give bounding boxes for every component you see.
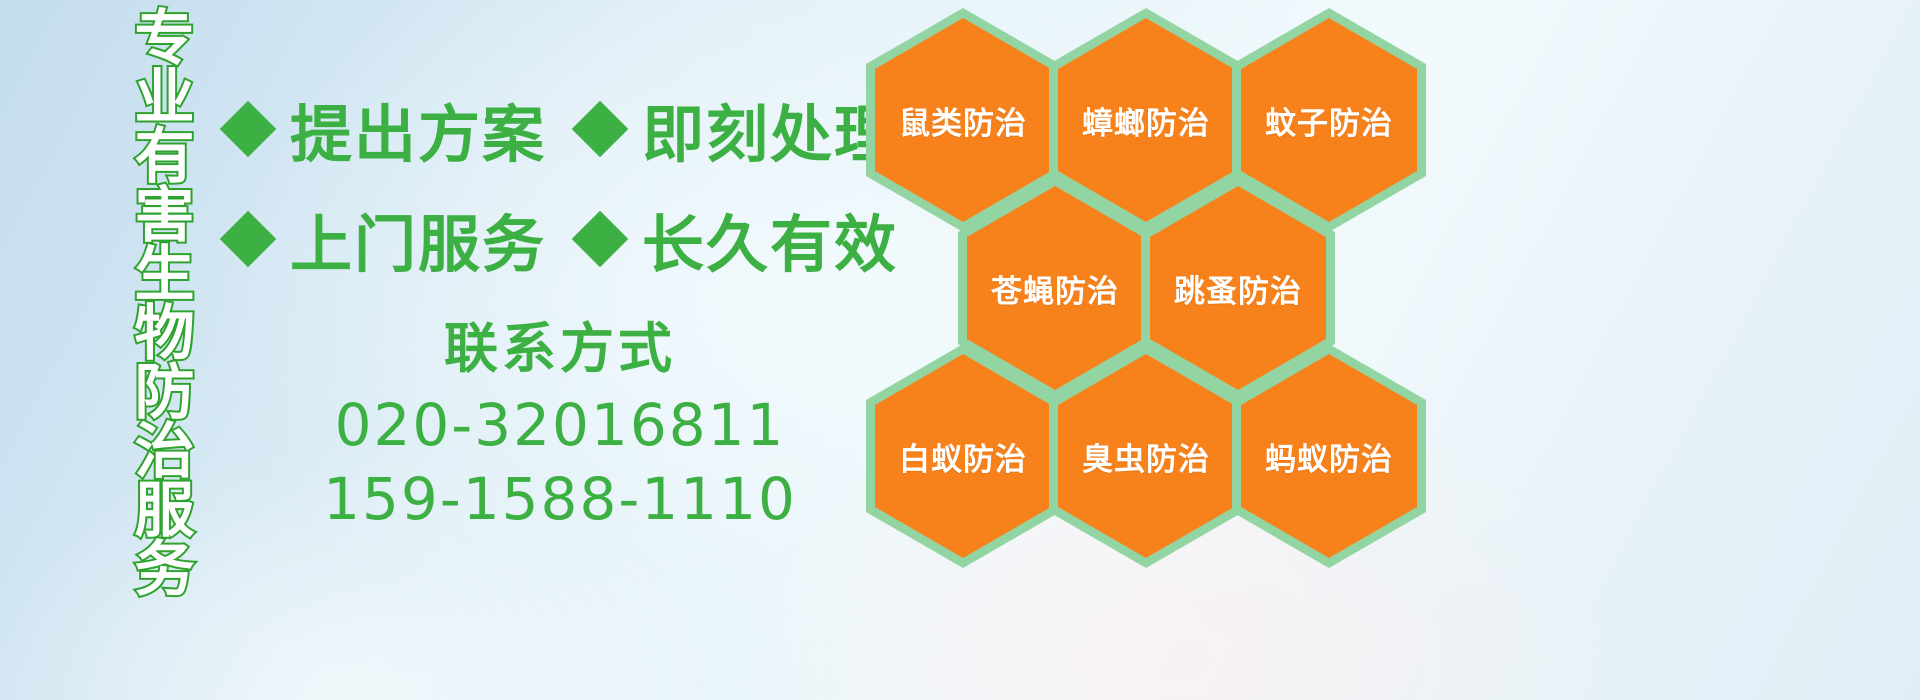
service-label: 蟑螂防治	[1082, 98, 1210, 143]
service-label: 蚊子防治	[1265, 98, 1393, 143]
service-hex-ant[interactable]: 蚂蚁防治	[1232, 344, 1426, 568]
service-label: 白蚁防治	[899, 434, 1027, 479]
service-label: 鼠类防治	[899, 98, 1027, 143]
service-label: 臭虫防治	[1082, 434, 1210, 479]
service-label: 苍蝇防治	[991, 266, 1119, 311]
service-hex-termite[interactable]: 白蚁防治	[866, 344, 1060, 568]
service-label: 跳蚤防治	[1174, 266, 1302, 311]
service-hex-bedbug[interactable]: 臭虫防治	[1049, 344, 1243, 568]
banner-canvas: 专业有害生物防治服务 提出方案 即刻处理 上门服务 长久有效 联系方式 020-…	[0, 0, 1920, 700]
service-honeycomb: 鼠类防治 蟑螂防治 蚊子防治 苍蝇防治 跳蚤防治 白蚁防治	[0, 0, 1920, 700]
service-label: 蚂蚁防治	[1265, 434, 1393, 479]
